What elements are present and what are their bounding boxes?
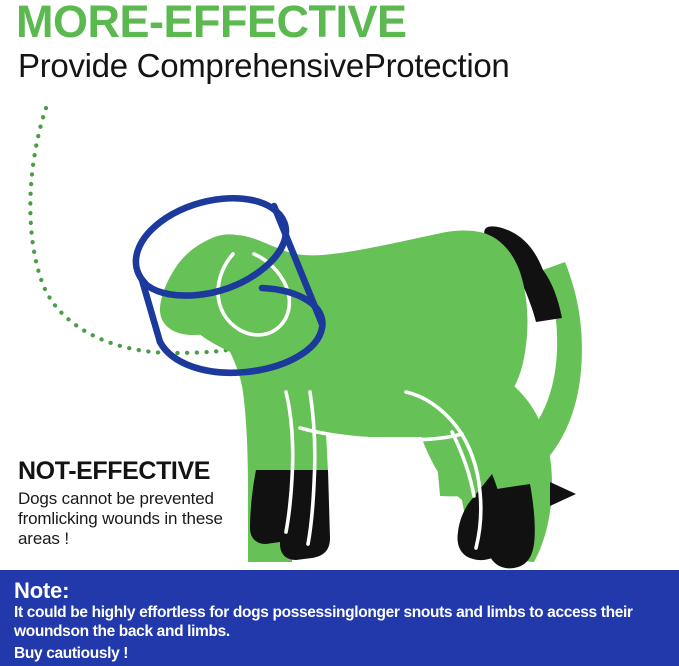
rear-sock-near bbox=[486, 484, 535, 568]
rear-leg-marker bbox=[550, 482, 576, 506]
note-title: Note: bbox=[14, 579, 665, 602]
not-effective-title: NOT-EFFECTIVE bbox=[18, 458, 258, 484]
not-effective-body: Dogs cannot be prevented fromlicking wou… bbox=[18, 489, 258, 549]
page-subtitle: Provide ComprehensiveProtection bbox=[18, 48, 509, 84]
not-effective-block: NOT-EFFECTIVE Dogs cannot be prevented f… bbox=[18, 458, 258, 549]
note-line-3: Buy cautiously ! bbox=[14, 645, 665, 664]
infographic-page: MORE-EFFECTIVE Provide ComprehensiveProt… bbox=[0, 0, 679, 666]
page-title: MORE-EFFECTIVE bbox=[16, 0, 407, 45]
note-banner: Note: It could be highly effortless for … bbox=[0, 570, 679, 666]
note-line-2: woundson the back and limbs. bbox=[14, 623, 665, 642]
note-line-1: It could be highly effortless for dogs p… bbox=[14, 604, 665, 623]
